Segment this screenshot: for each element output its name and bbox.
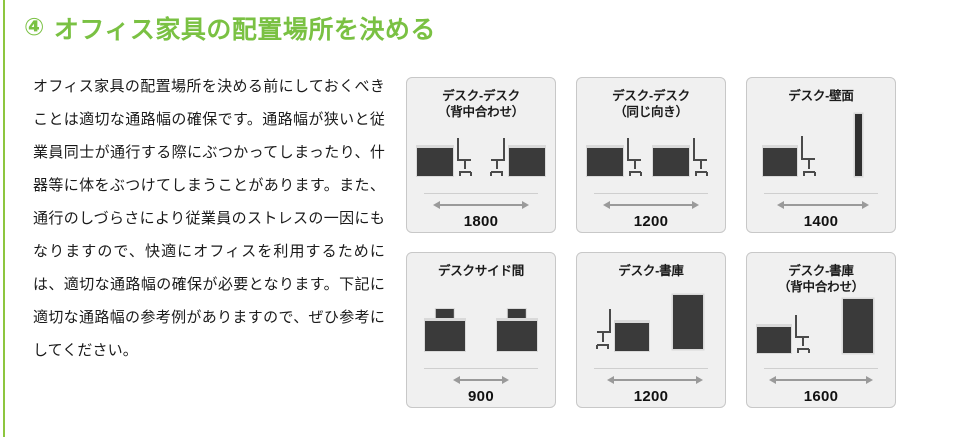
card-title-line2: （同じ向き） <box>577 104 725 120</box>
arrow-bar <box>776 379 866 381</box>
chair-icon <box>591 309 611 349</box>
arrow-head-right-icon <box>502 376 509 384</box>
card-diagram: 1600 <box>755 295 887 407</box>
body-column: オフィス家具の配置場所を決める前にしておくべきことは適切な通路幅の確保です。通路… <box>33 70 385 367</box>
card-desk-wall: デスク-壁面 1400 <box>746 77 896 233</box>
card-desk-cabinet-back-to-back: デスク-書庫 （背中合わせ） 1600 <box>746 252 896 408</box>
card-title-line1: デスク-書庫 <box>788 264 853 278</box>
card-separator <box>594 193 708 194</box>
clearance-value: 1200 <box>585 213 717 230</box>
card-title: デスク-デスク （同じ向き） <box>577 88 725 120</box>
card-separator <box>424 193 538 194</box>
section-number: ④ <box>24 16 45 40</box>
card-title-line1: デスク-デスク <box>442 89 520 103</box>
desk-side-icon <box>497 309 537 349</box>
arrow-bar <box>784 204 862 206</box>
arrow-head-left-icon <box>453 376 460 384</box>
clearance-value: 1400 <box>755 213 887 230</box>
card-title-line2: （背中合わせ） <box>747 279 895 295</box>
card-title: デスク-書庫 <box>577 263 725 279</box>
card-separator <box>594 368 708 369</box>
section-title-text: オフィス家具の配置場所を決める <box>54 10 436 46</box>
desk-icon <box>763 146 797 176</box>
arrow-bar <box>610 204 692 206</box>
arrow-head-right-icon <box>866 376 873 384</box>
card-title-line1: デスク-デスク <box>612 89 690 103</box>
page-title: ④ オフィス家具の配置場所を決める <box>24 8 664 48</box>
clearance-value: 900 <box>415 388 547 405</box>
card-title: デスクサイド間 <box>407 263 555 279</box>
card-title-line2: （背中合わせ） <box>407 104 555 120</box>
chair-icon <box>801 136 821 176</box>
clearance-arrow <box>607 375 703 385</box>
card-diagram: 1200 <box>585 279 717 407</box>
card-separator <box>764 193 878 194</box>
desk-side-icon <box>425 309 465 349</box>
arrow-bar <box>614 379 696 381</box>
card-title-line1: デスク-壁面 <box>788 89 853 103</box>
wall-icon <box>855 114 862 176</box>
clearance-value: 1800 <box>415 213 547 230</box>
card-separator <box>764 368 878 369</box>
clearance-value: 1600 <box>755 388 887 405</box>
desk-icon <box>653 146 689 176</box>
arrow-head-right-icon <box>862 201 869 209</box>
cabinet-icon <box>673 295 703 349</box>
card-diagram: 1400 <box>755 104 887 232</box>
card-title: デスク-壁面 <box>747 88 895 104</box>
arrow-head-left-icon <box>777 201 784 209</box>
clearance-value: 1200 <box>585 388 717 405</box>
arrow-bar <box>460 379 502 381</box>
clearance-arrow <box>769 375 873 385</box>
arrow-head-right-icon <box>692 201 699 209</box>
clearance-arrow <box>453 375 509 385</box>
card-separator <box>424 368 538 369</box>
arrow-head-left-icon <box>769 376 776 384</box>
card-desk-cabinet: デスク-書庫 1200 <box>576 252 726 408</box>
cabinet-icon <box>843 299 873 353</box>
left-accent-rule <box>3 0 5 437</box>
chair-icon <box>627 138 647 176</box>
body-paragraph: オフィス家具の配置場所を決める前にしておくべきことは適切な通路幅の確保です。通路… <box>33 70 385 367</box>
page-root: ④ オフィス家具の配置場所を決める オフィス家具の配置場所を決める前にしておくべ… <box>0 0 960 437</box>
clearance-arrow <box>777 200 869 210</box>
arrow-head-left-icon <box>607 376 614 384</box>
arrow-head-left-icon <box>603 201 610 209</box>
chair-icon <box>795 315 815 353</box>
chair-icon <box>693 138 713 176</box>
card-title: デスク-書庫 （背中合わせ） <box>747 263 895 295</box>
chair-icon <box>457 138 477 176</box>
desk-icon <box>509 146 545 176</box>
card-desk-side-gap: デスクサイド間 900 <box>406 252 556 408</box>
arrow-head-right-icon <box>522 201 529 209</box>
clearance-arrow <box>603 200 699 210</box>
card-diagram: 1800 <box>415 120 547 232</box>
card-desk-desk-same-direction: デスク-デスク （同じ向き） 1200 <box>576 77 726 233</box>
desk-icon <box>615 321 649 351</box>
arrow-head-left-icon <box>433 201 440 209</box>
desk-icon <box>757 325 791 353</box>
card-title-line1: デスクサイド間 <box>438 264 524 278</box>
desk-icon <box>587 146 623 176</box>
card-diagram: 1200 <box>585 120 717 232</box>
card-desk-desk-back-to-back: デスク-デスク （背中合わせ） 1800 <box>406 77 556 233</box>
arrow-head-right-icon <box>696 376 703 384</box>
card-title: デスク-デスク （背中合わせ） <box>407 88 555 120</box>
chair-icon <box>485 138 505 176</box>
clearance-arrow <box>433 200 529 210</box>
arrow-bar <box>440 204 522 206</box>
card-diagram: 900 <box>415 279 547 407</box>
card-title-line1: デスク-書庫 <box>618 264 683 278</box>
desk-icon <box>417 146 453 176</box>
clearance-examples-grid: デスク-デスク （背中合わせ） 1800 <box>406 77 926 408</box>
